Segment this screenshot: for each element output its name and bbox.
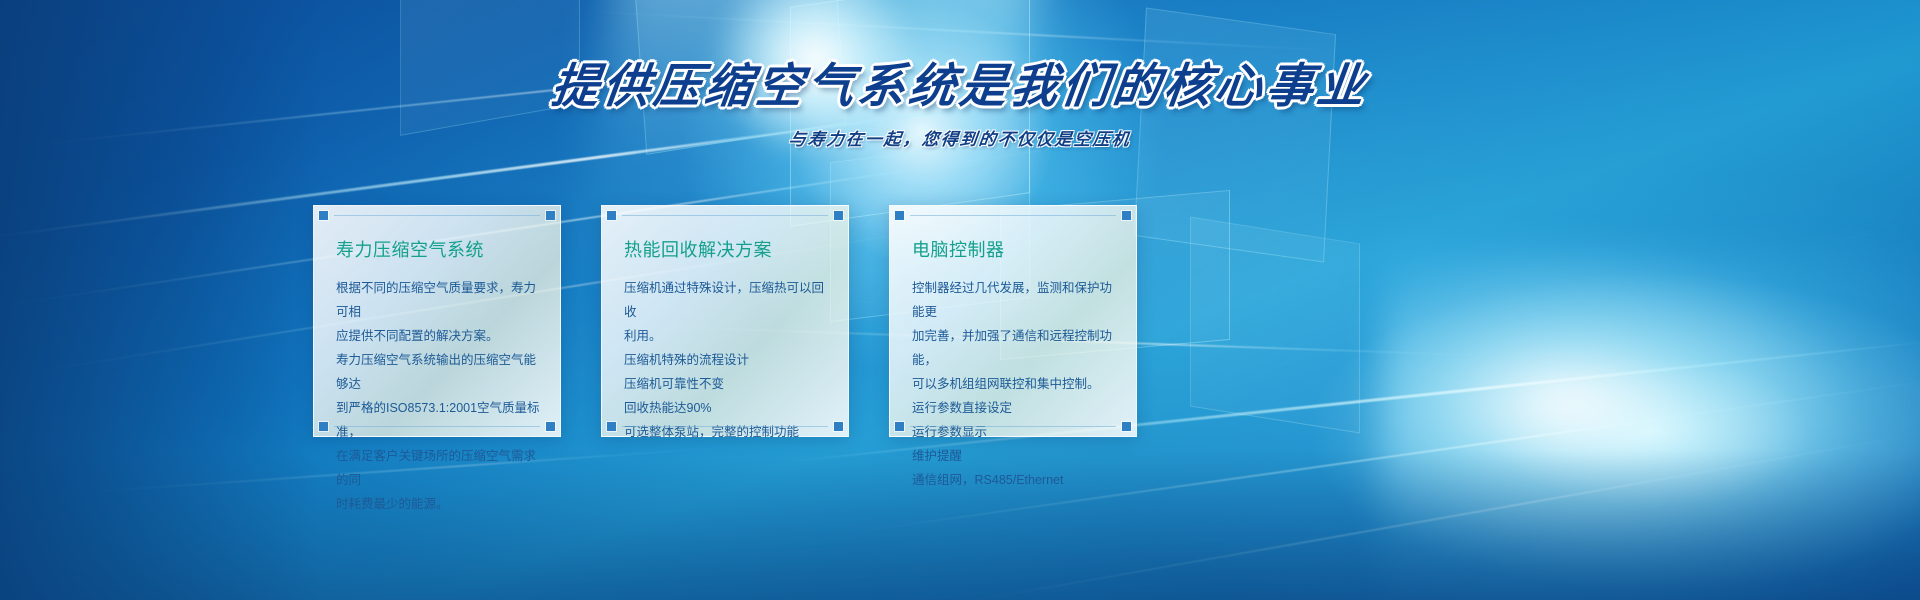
decorative-pane (1190, 217, 1360, 434)
card-line: 应提供不同配置的解决方案。 (336, 324, 540, 348)
feature-card-heat-recovery[interactable]: 热能回收解决方案 压缩机通过特殊设计，压缩热可以回收 利用。 压缩机特殊的流程设… (601, 205, 849, 437)
card-line: 寿力压缩空气系统输出的压缩空气能够达 (336, 348, 540, 396)
page-title: 提供压缩空气系统是我们的核心事业 (549, 62, 1371, 111)
corner-marker-icon (895, 422, 904, 431)
card-line: 可以多机组组网联控和集中控制。 (912, 372, 1116, 396)
page-subtitle: 与寿力在一起，您得到的不仅仅是空压机 (787, 125, 1132, 150)
corner-marker-icon (546, 422, 555, 431)
card-divider (622, 215, 828, 216)
card-line: 运行参数显示 (912, 420, 1116, 444)
card-line: 运行参数直接设定 (912, 396, 1116, 420)
card-line: 通信组网，RS485/Ethernet (912, 468, 1116, 492)
card-line: 压缩机特殊的流程设计 (624, 348, 828, 372)
card-body: 控制器经过几代发展，监测和保护功能更 加完善，并加强了通信和远程控制功能， 可以… (912, 276, 1116, 492)
card-line: 时耗费最少的能源。 (336, 492, 540, 516)
card-divider (910, 215, 1116, 216)
corner-marker-icon (834, 422, 843, 431)
feature-card-list: 寿力压缩空气系统 根据不同的压缩空气质量要求，寿力可相 应提供不同配置的解决方案… (313, 205, 1137, 437)
card-line: 压缩机通过特殊设计，压缩热可以回收 (624, 276, 828, 324)
card-line: 维护提醒 (912, 444, 1116, 468)
corner-marker-icon (319, 422, 328, 431)
card-line: 可选整体泵站，完整的控制功能 (624, 420, 828, 444)
headline-block: 提供压缩空气系统是我们的核心事业 与寿力在一起，您得到的不仅仅是空压机 (0, 62, 1920, 150)
card-title: 热能回收解决方案 (624, 236, 828, 262)
card-title: 电脑控制器 (912, 236, 1116, 262)
feature-card-compressed-air-system[interactable]: 寿力压缩空气系统 根据不同的压缩空气质量要求，寿力可相 应提供不同配置的解决方案… (313, 205, 561, 437)
card-line: 压缩机可靠性不变 (624, 372, 828, 396)
corner-marker-icon (546, 211, 555, 220)
card-body: 压缩机通过特殊设计，压缩热可以回收 利用。 压缩机特殊的流程设计 压缩机可靠性不… (624, 276, 828, 444)
corner-marker-icon (607, 422, 616, 431)
corner-marker-icon (607, 211, 616, 220)
card-divider (334, 426, 540, 427)
corner-marker-icon (834, 211, 843, 220)
card-line: 控制器经过几代发展，监测和保护功能更 (912, 276, 1116, 324)
card-body: 根据不同的压缩空气质量要求，寿力可相 应提供不同配置的解决方案。 寿力压缩空气系… (336, 276, 540, 516)
card-line: 根据不同的压缩空气质量要求，寿力可相 (336, 276, 540, 324)
corner-marker-icon (319, 211, 328, 220)
feature-card-computer-controller[interactable]: 电脑控制器 控制器经过几代发展，监测和保护功能更 加完善，并加强了通信和远程控制… (889, 205, 1137, 437)
corner-marker-icon (1122, 422, 1131, 431)
card-line: 利用。 (624, 324, 828, 348)
card-divider (622, 426, 828, 427)
card-line: 到严格的ISO8573.1:2001空气质量标准， (336, 396, 540, 444)
corner-marker-icon (1122, 211, 1131, 220)
card-line: 在满足客户关键场所的压缩空气需求的同 (336, 444, 540, 492)
corner-marker-icon (895, 211, 904, 220)
card-line: 回收热能达90% (624, 396, 828, 420)
card-line: 加完善，并加强了通信和远程控制功能， (912, 324, 1116, 372)
banner-hero: 提供压缩空气系统是我们的核心事业 与寿力在一起，您得到的不仅仅是空压机 寿力压缩… (0, 0, 1920, 600)
card-title: 寿力压缩空气系统 (336, 236, 540, 262)
card-divider (910, 426, 1116, 427)
card-divider (334, 215, 540, 216)
